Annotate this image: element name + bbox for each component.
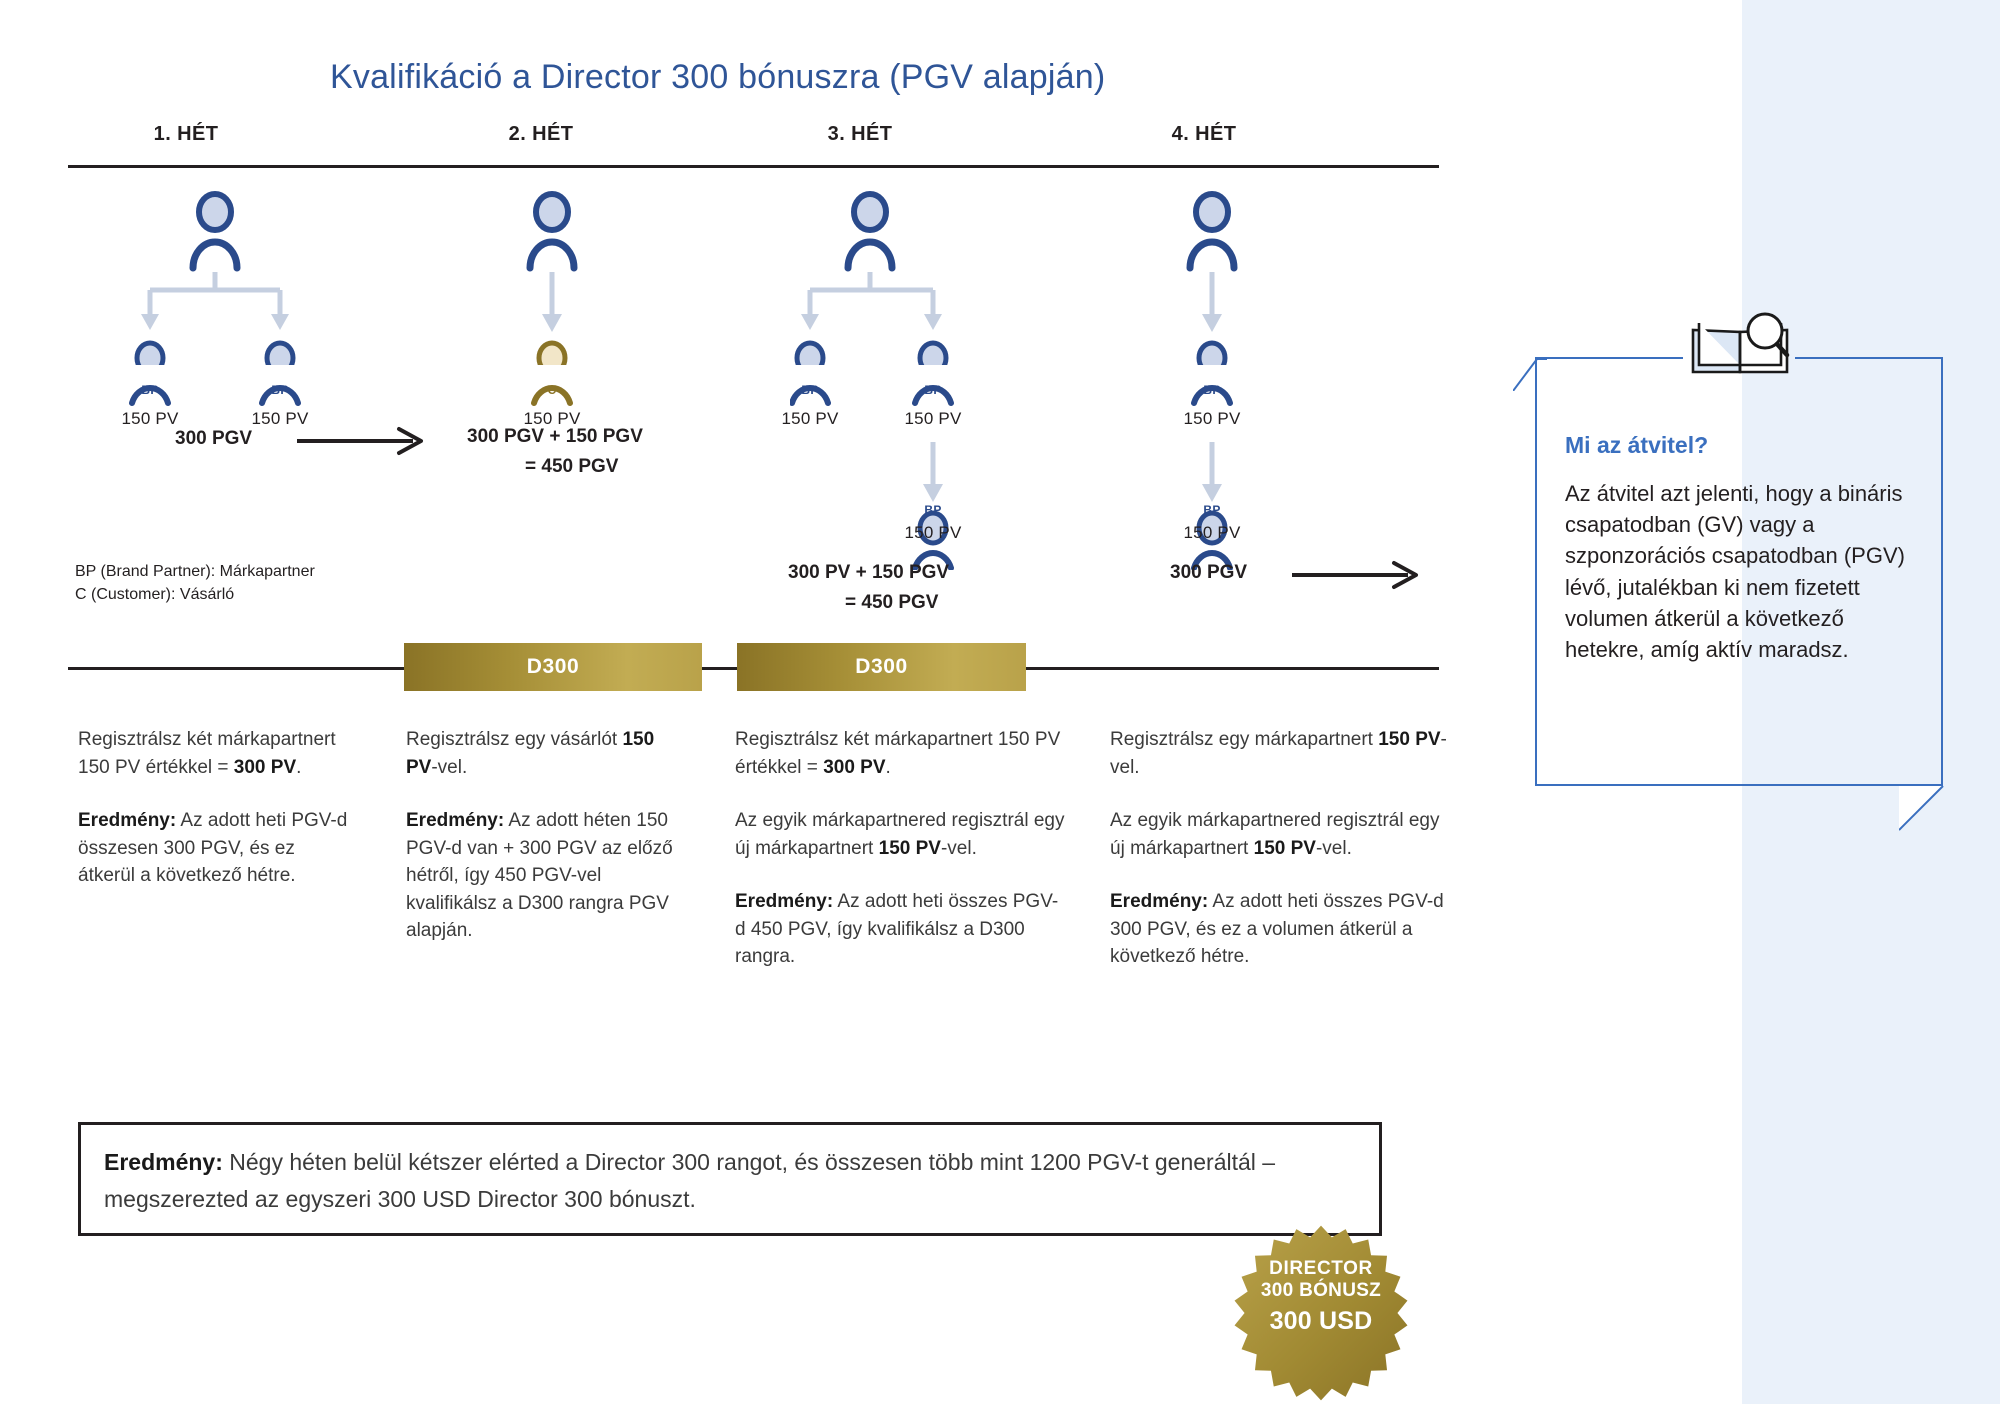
pv-label-w1-a: 150 PV: [90, 409, 210, 429]
pv-label-w3-a: 150 PV: [750, 409, 870, 429]
legend-line-bp: BP (Brand Partner): Márkapartner: [75, 560, 315, 583]
badge-bp-w3-b: BP: [913, 383, 953, 397]
week2-summary-line2: = 450 PGV: [525, 456, 618, 478]
week2-tree-graphic: [480, 190, 710, 365]
rank-bar-d300-week3: D300: [737, 643, 1026, 691]
description-week-3: Regisztrálsz két márkapartnert 150 PV ér…: [735, 726, 1065, 997]
desc4-paragraph-2: Az egyik márkapartnered regisztrál egy ú…: [1110, 807, 1450, 862]
panel-top-border-left: [1535, 357, 1683, 359]
week4-tree-graphic: [1140, 190, 1370, 365]
person-icon-bp-w4: [1199, 343, 1225, 365]
week2-summary-line1: 300 PGV + 150 PGV: [467, 426, 643, 448]
desc3-paragraph-3: Eredmény: Az adott heti összes PGV-d 450…: [735, 888, 1065, 971]
panel-top-border-right: [1795, 357, 1943, 359]
week3-tree-graphic: [790, 190, 1020, 365]
panel-title: Mi az átvitel?: [1565, 432, 1708, 459]
person-icon-bp-w3-b: [920, 343, 946, 365]
badge-bp-w1-a: BP: [130, 383, 170, 397]
result-label: Eredmény:: [104, 1149, 223, 1175]
panel-corner-notch: [1513, 357, 1547, 391]
pv-label-w3-b: 150 PV: [873, 409, 993, 429]
week1-summary: 300 PGV: [175, 428, 252, 450]
legend-line-c: C (Customer): Vásárló: [75, 583, 315, 606]
badge-bp-w4: BP: [1192, 383, 1232, 397]
desc2-paragraph-1: Regisztrálsz egy vásárlót 150 PV-vel.: [406, 726, 684, 781]
result-text: Eredmény: Négy héten belül kétszer elért…: [104, 1144, 1354, 1219]
description-week-2: Regisztrálsz egy vásárlót 150 PV-vel. Er…: [406, 726, 684, 971]
seal-text: DIRECTOR 300 BÓNUSZ 300 USD: [1230, 1258, 1412, 1336]
week1-tree-graphic: [110, 190, 340, 365]
week-header-1: 1. HÉT: [86, 123, 286, 146]
result-body: Négy héten belül kétszer elérted a Direc…: [104, 1149, 1275, 1212]
description-week-1: Regisztrálsz két márkapartnert 150 PV ér…: [78, 726, 356, 916]
book-magnifier-icon: [1687, 310, 1797, 378]
person-icon-bp-w1-b: [267, 343, 293, 365]
pv-label-w3-grandchild: 150 PV: [873, 523, 993, 543]
seal-line-2: 300 BÓNUSZ: [1230, 1280, 1412, 1302]
person-icon-root-w4: [1190, 194, 1234, 268]
seal-line-1: DIRECTOR: [1230, 1258, 1412, 1280]
panel-body-text: Az átvitel azt jelenti, hogy a bináris c…: [1565, 478, 1925, 665]
desc3-paragraph-2: Az egyik márkapartnered regisztrál egy ú…: [735, 807, 1065, 862]
week-header-4: 4. HÉT: [1104, 123, 1304, 146]
desc2-paragraph-2: Eredmény: Az adott héten 150 PGV-d van +…: [406, 807, 684, 945]
desc4-paragraph-3: Eredmény: Az adott heti összes PGV-d 300…: [1110, 888, 1450, 971]
person-icon-customer-w2: [539, 343, 565, 365]
week-header-2: 2. HÉT: [441, 123, 641, 146]
week2-child-body: [480, 365, 710, 410]
person-icon-root-w3: [848, 194, 892, 268]
person-icon-bp-w1-a: [137, 343, 163, 365]
legend: BP (Brand Partner): Márkapartner C (Cust…: [75, 560, 315, 606]
badge-c-w2: C: [532, 383, 572, 397]
desc4-paragraph-1: Regisztrálsz egy márkapartnert 150 PV-ve…: [1110, 726, 1450, 781]
week4-child-body: [1140, 365, 1370, 410]
description-week-4: Regisztrálsz egy márkapartnert 150 PV-ve…: [1110, 726, 1450, 997]
rank-bar-d300-week2: D300: [404, 643, 702, 691]
desc3-paragraph-1: Regisztrálsz két márkapartnert 150 PV ér…: [735, 726, 1065, 781]
seal-line-3: 300 USD: [1230, 1307, 1412, 1337]
desc1-paragraph-2: Eredmény: Az adott heti PGV-d összesen 3…: [78, 807, 356, 890]
badge-bp-w4-grandchild: BP: [1192, 503, 1232, 517]
week3-summary-line2: = 450 PGV: [845, 592, 938, 614]
pv-label-w4: 150 PV: [1152, 409, 1272, 429]
badge-bp-w3-grandchild: BP: [913, 503, 953, 517]
week4-summary: 300 PGV: [1170, 562, 1247, 584]
week-header-3: 3. HÉT: [760, 123, 960, 146]
pv-label-w4-grandchild: 150 PV: [1152, 523, 1272, 543]
week4-carryover-arrow-icon: [1290, 558, 1425, 592]
week1-carryover-arrow-icon: [295, 424, 430, 458]
desc1-paragraph-1: Regisztrálsz két márkapartnert 150 PV ér…: [78, 726, 356, 781]
person-icon-bp-w3-a: [797, 343, 823, 365]
week3-summary-line1: 300 PV + 150 PGV: [788, 562, 949, 584]
panel-corner-tail: [1899, 786, 1945, 832]
badge-bp-w1-b: BP: [260, 383, 300, 397]
person-icon-root-w1: [193, 194, 237, 268]
divider-top: [68, 165, 1439, 168]
badge-bp-w3-a: BP: [790, 383, 830, 397]
page-title: Kvalifikáció a Director 300 bónuszra (PG…: [330, 58, 1105, 97]
person-icon-root-w2: [530, 194, 574, 268]
